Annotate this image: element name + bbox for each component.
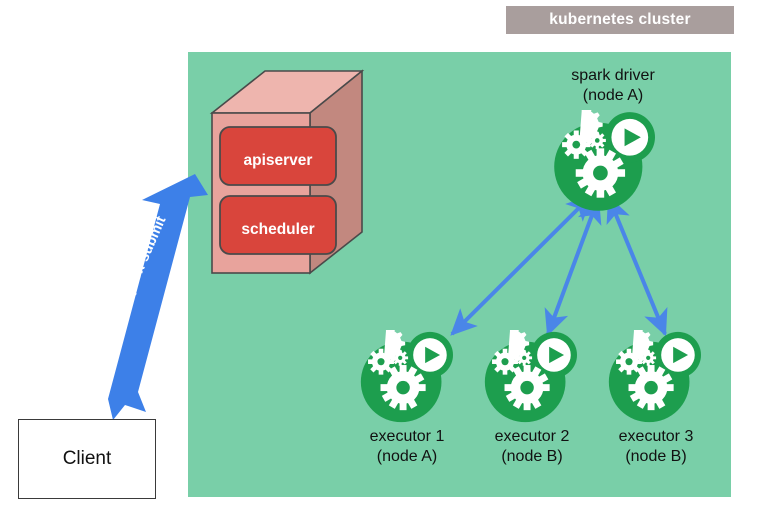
- executor-2-caption: executor 2 (node B): [462, 427, 602, 467]
- client-label: Client: [63, 448, 112, 470]
- executor-3-caption: executor 3 (node B): [586, 427, 726, 467]
- kubernetes-cluster-banner-label: kubernetes cluster: [549, 11, 690, 29]
- spark-driver-caption-line2: (node A): [523, 86, 703, 106]
- apiserver-label: apiserver: [222, 152, 334, 170]
- executor-3-caption-line2: (node B): [586, 447, 726, 467]
- control-plane-cube: [212, 71, 362, 273]
- executor-1-caption: executor 1 (node A): [337, 427, 477, 467]
- executor-1-caption-line1: executor 1: [337, 427, 477, 447]
- executor-2-caption-line2: (node B): [462, 447, 602, 467]
- scheduler-label: scheduler: [222, 221, 334, 239]
- diagram-canvas: kubernetes cluster apiserver scheduler s…: [0, 0, 761, 516]
- kubernetes-cluster-banner: kubernetes cluster: [506, 6, 734, 34]
- executor-3-caption-line1: executor 3: [586, 427, 726, 447]
- spark-driver-caption-line1: spark driver: [523, 66, 703, 86]
- spark-driver-caption: spark driver (node A): [523, 66, 703, 106]
- executor-1-caption-line2: (node A): [337, 447, 477, 467]
- client-box[interactable]: Client: [18, 419, 156, 499]
- executor-2-caption-line1: executor 2: [462, 427, 602, 447]
